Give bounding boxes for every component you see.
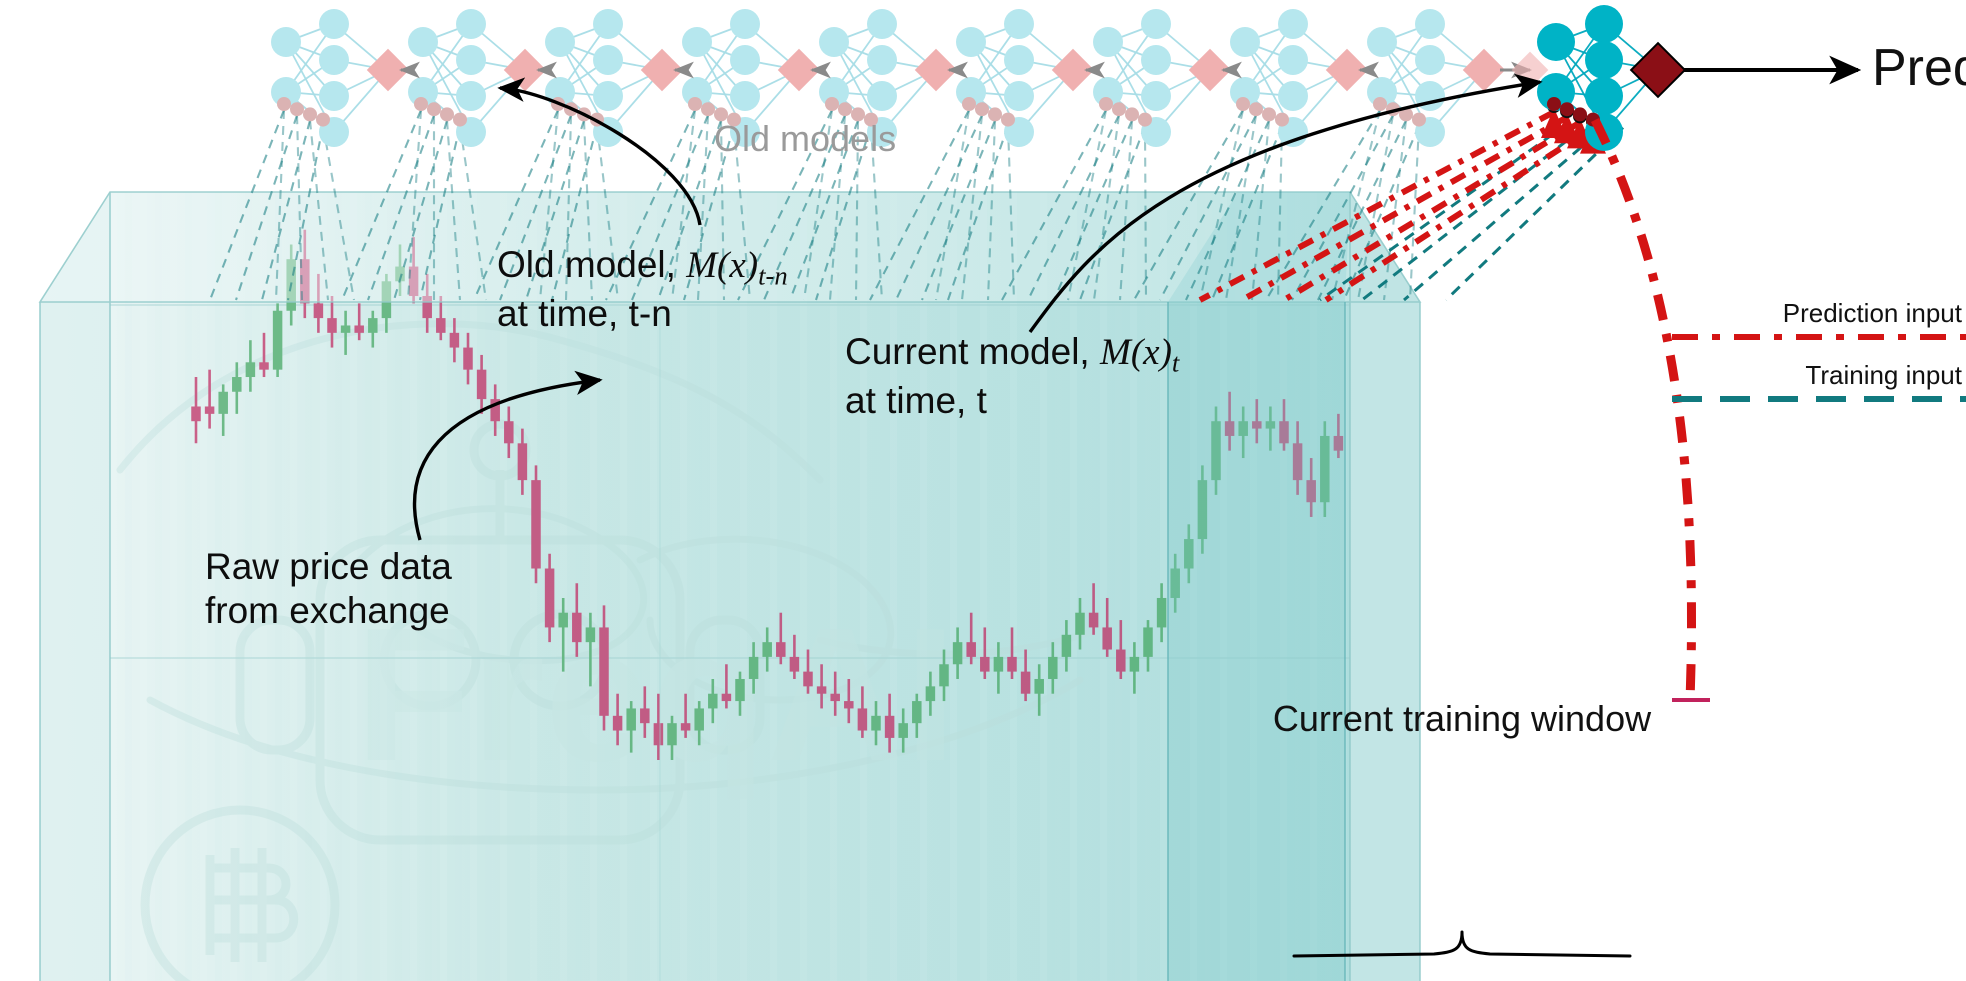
legend-item-training-input: Training input (1672, 360, 1962, 422)
old-model-annotation: Old model, M(x)t-n at time, t-n (497, 243, 788, 336)
prediction-label: Prediction (1872, 38, 1966, 98)
legend-item-prediction-input: Prediction input (1672, 298, 1962, 360)
prediction-curve-layer (0, 0, 1966, 981)
raw-price-annotation-line2: from exchange (205, 589, 452, 633)
current-training-window-label: Current training window (1273, 698, 1651, 740)
old-model-annotation-prefix: Old model, (497, 244, 686, 285)
raw-price-annotation: Raw price data from exchange (205, 545, 452, 632)
old-model-annotation-line2: at time, t-n (497, 292, 788, 336)
legend-label-prediction-input: Prediction input (1672, 298, 1962, 329)
legend-swatch-prediction-input (1672, 334, 1966, 340)
old-model-math: M(x) (686, 245, 758, 286)
legend-swatch-training-input (1672, 396, 1966, 402)
current-model-annotation: Current model, M(x)t at time, t (845, 330, 1179, 423)
old-models-label: Old models (714, 118, 896, 160)
raw-price-annotation-line1: Raw price data (205, 545, 452, 589)
current-model-math-subscript: t (1172, 347, 1179, 377)
current-model-annotation-prefix: Current model, (845, 331, 1100, 372)
diagram-canvas: FreqAI (0, 0, 1966, 981)
old-model-math-subscript: t-n (758, 260, 788, 290)
current-model-math: M(x) (1100, 332, 1172, 373)
current-model-annotation-line2: at time, t (845, 379, 1179, 423)
legend: Prediction input Training input (1672, 298, 1962, 422)
legend-label-training-input: Training input (1672, 360, 1962, 391)
